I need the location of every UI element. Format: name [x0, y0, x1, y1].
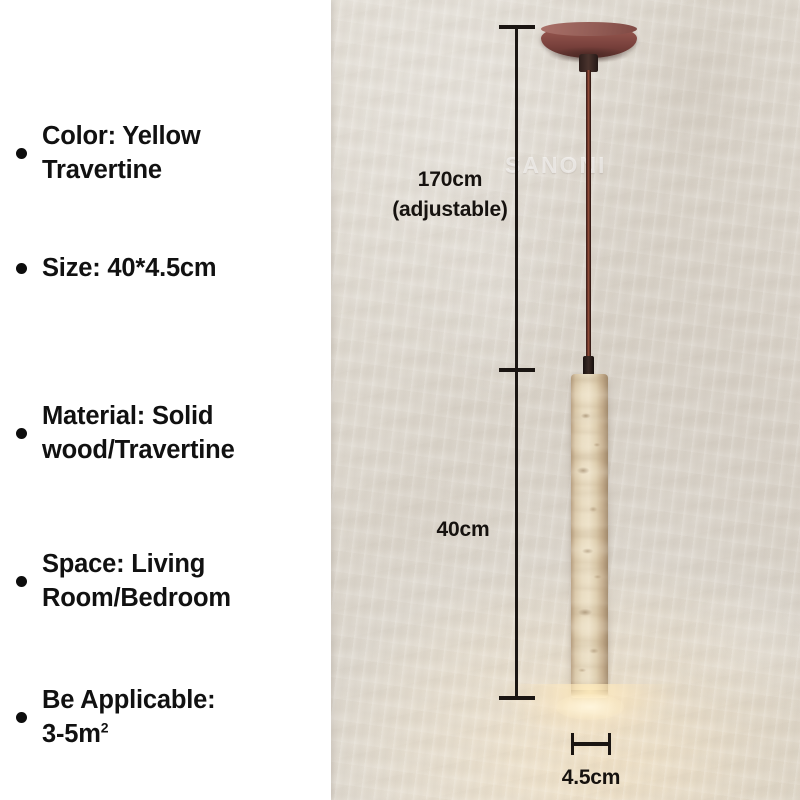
bullet-icon	[16, 428, 27, 439]
product-spec-image: SANONI 170cm (adjustable) 40cm 4.5cm Col…	[0, 0, 800, 800]
spec-item-color: Color: Yellow Travertine	[16, 120, 326, 188]
dim-line-body	[515, 370, 518, 700]
spec-panel: Color: Yellow Travertine Size: 40*4.5cm …	[0, 0, 331, 800]
travertine-pitting	[571, 374, 608, 696]
dim-label-cord-value: 170cm	[390, 168, 510, 192]
dim-tick-bottom	[499, 696, 535, 700]
spec-item-size-label: Size: 40*4.5cm	[42, 252, 216, 286]
bullet-icon	[16, 576, 27, 587]
spec-item-size: Size: 40*4.5cm	[16, 252, 326, 286]
spec-item-material-label: Material: Solid wood/Travertine	[42, 400, 235, 468]
dim-label-diameter-value: 4.5cm	[534, 766, 648, 790]
bullet-icon	[16, 148, 27, 159]
spec-item-space: Space: Living Room/Bedroom	[16, 548, 326, 616]
spec-list: Color: Yellow Travertine Size: 40*4.5cm …	[0, 0, 331, 800]
dim-tick-diameter-right	[608, 733, 611, 755]
spec-item-space-label: Space: Living Room/Bedroom	[42, 548, 231, 616]
spec-item-applicable-area: Be Applicable: 3-5m2	[16, 684, 326, 752]
spec-item-color-label: Color: Yellow Travertine	[42, 120, 200, 188]
ceiling-canopy-top-face	[541, 22, 637, 36]
hanging-cord	[586, 70, 591, 375]
bullet-icon	[16, 263, 27, 274]
square-meter-superscript: 2	[101, 719, 109, 735]
bullet-icon	[16, 712, 27, 723]
dim-label-body-value: 40cm	[418, 518, 508, 542]
dim-line-diameter	[571, 742, 611, 746]
light-source-core	[556, 694, 624, 720]
spec-item-material: Material: Solid wood/Travertine	[16, 400, 326, 468]
travertine-cylinder-body	[571, 374, 608, 696]
spec-item-applicable-area-label: Be Applicable: 3-5m2	[42, 684, 215, 752]
brand-watermark: SANONI	[505, 152, 606, 179]
dim-label-cord-note: (adjustable)	[380, 198, 520, 222]
